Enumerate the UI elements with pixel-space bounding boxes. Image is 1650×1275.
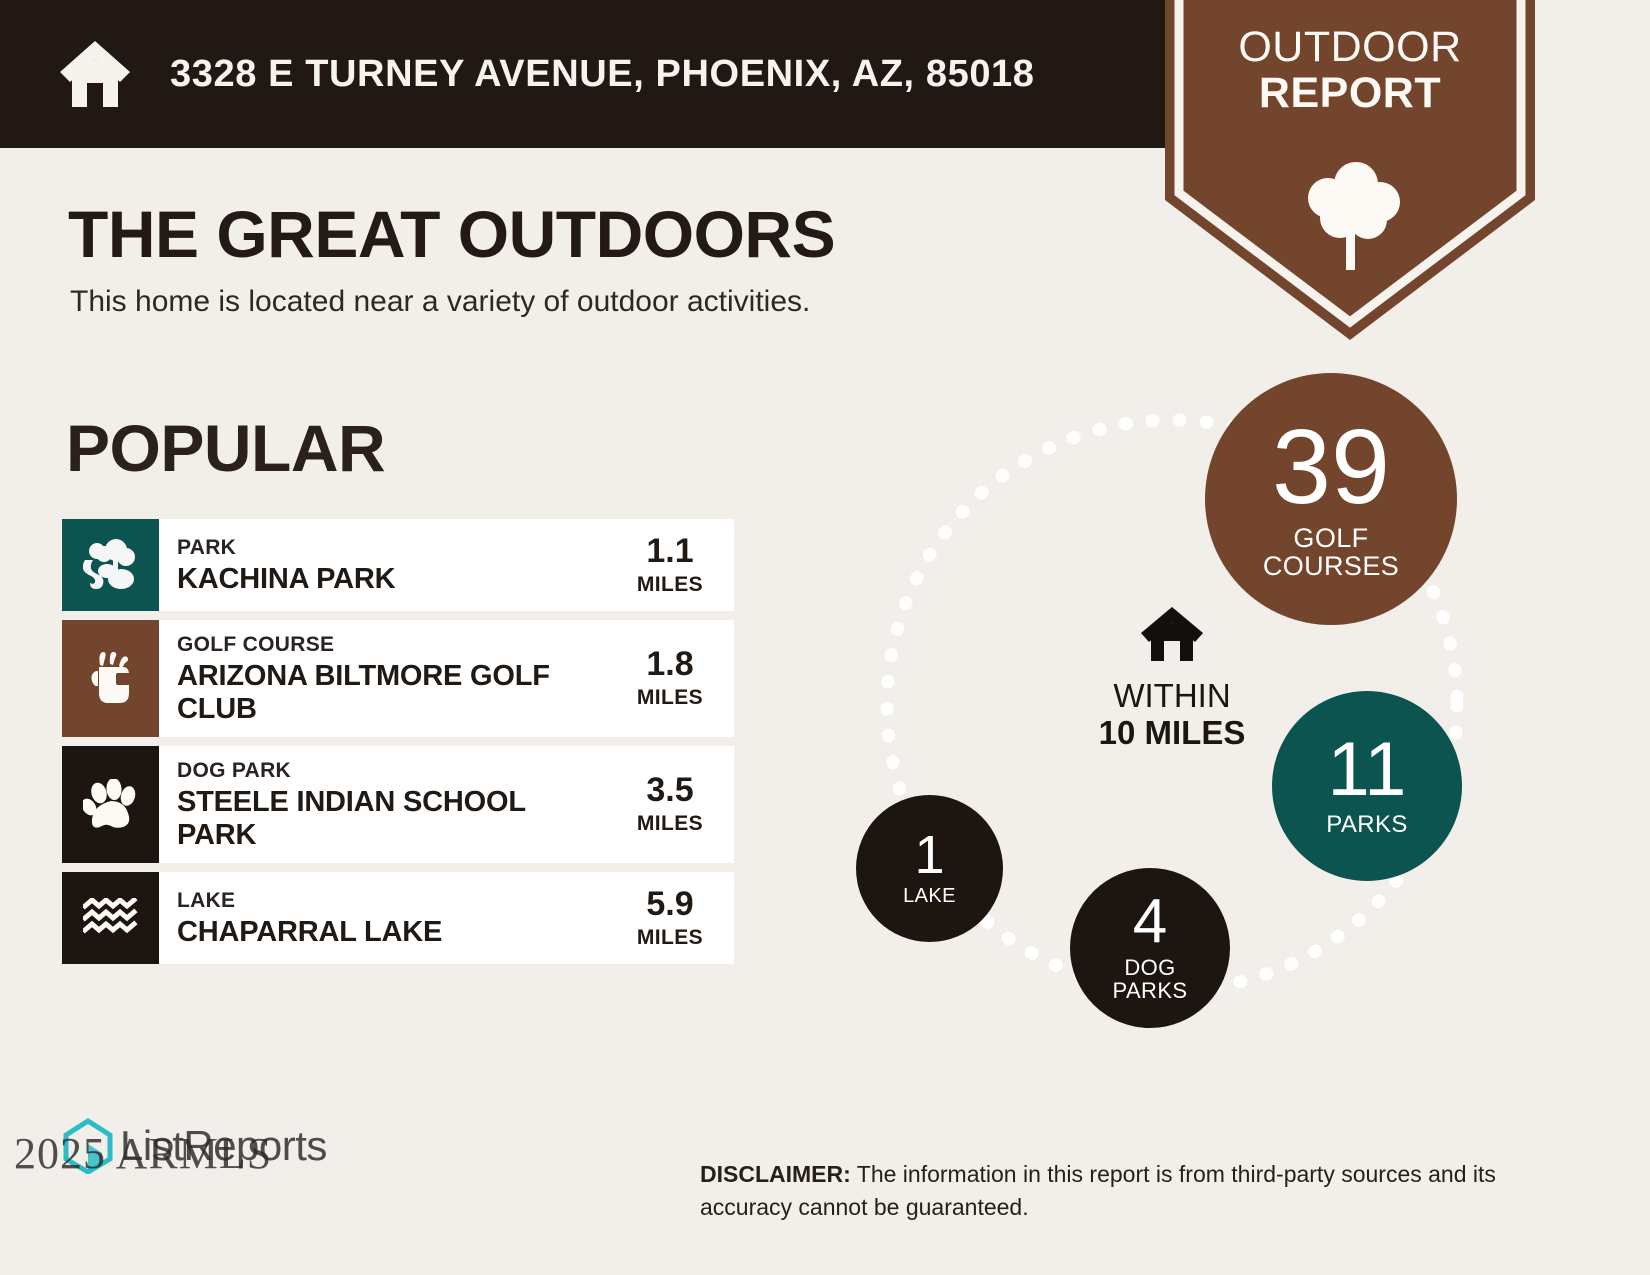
bubble-parks[interactable]: 11 PARKS: [1272, 691, 1462, 881]
distance-value: 1.1: [646, 534, 693, 568]
center-label-line-1: WITHIN: [1099, 677, 1246, 714]
distance-unit: MILES: [637, 686, 703, 710]
page-title: THE GREAT OUTDOORS: [68, 196, 835, 272]
outdoor-report-badge: OUTDOOR REPORT: [1165, 0, 1535, 343]
list-item-name: CHAPARRAL LAKE: [177, 916, 616, 948]
list-item-name: ARIZONA BILTMORE GOLF CLUB: [177, 660, 616, 725]
popular-list: PARK KACHINA PARK 1.1 MILES GOL: [62, 519, 734, 973]
golf-bag-icon: [62, 620, 159, 737]
bubble-lake[interactable]: 1 LAKE: [856, 795, 1003, 942]
list-item-text: GOLF COURSE ARIZONA BILTMORE GOLF CLUB: [159, 620, 622, 737]
list-item-distance: 3.5 MILES: [622, 746, 734, 863]
bubble-label: PARKS: [1326, 812, 1408, 837]
list-item-category: PARK: [177, 535, 616, 561]
center-label: WITHIN 10 MILES: [1099, 677, 1246, 752]
bubble-label: LAKE: [903, 886, 956, 907]
bubble-label-line-1: DOG: [1113, 956, 1188, 979]
list-item-text: LAKE CHAPARRAL LAKE: [159, 872, 622, 964]
list-item-text: PARK KACHINA PARK: [159, 519, 622, 611]
list-item-category: GOLF COURSE: [177, 632, 616, 658]
list-item[interactable]: DOG PARK STEELE INDIAN SCHOOL PARK 3.5 M…: [62, 746, 734, 863]
amenities-bubble-chart: WITHIN 10 MILES 39 GOLF COURSES 11 PARKS…: [820, 355, 1520, 1055]
bubble-label: GOLF COURSES: [1263, 524, 1399, 581]
distance-value: 1.8: [646, 647, 693, 681]
list-item[interactable]: GOLF COURSE ARIZONA BILTMORE GOLF CLUB 1…: [62, 620, 734, 737]
distance-unit: MILES: [637, 812, 703, 836]
badge-text: OUTDOOR REPORT: [1165, 24, 1535, 116]
bubble-value: 1: [914, 830, 944, 881]
distance-unit: MILES: [637, 573, 703, 597]
armls-watermark: 2025 ARMLS: [14, 1128, 272, 1179]
header-address: 3328 E TURNEY AVENUE, PHOENIX, AZ, 85018: [170, 53, 1035, 96]
header-bar: 3328 E TURNEY AVENUE, PHOENIX, AZ, 85018: [0, 0, 1212, 148]
disclaimer-lead: DISCLAIMER:: [700, 1161, 851, 1187]
bubble-value: 39: [1272, 417, 1390, 518]
bubble-label-line-2: COURSES: [1263, 552, 1399, 581]
badge-line-1: OUTDOOR: [1165, 24, 1535, 70]
list-item-distance: 1.8 MILES: [622, 620, 734, 737]
distance-value: 3.5: [646, 773, 693, 807]
bubble-label-line-1: GOLF: [1263, 524, 1399, 553]
bubble-value: 4: [1133, 893, 1167, 952]
bubble-dog-parks[interactable]: 4 DOG PARKS: [1070, 868, 1230, 1028]
park-tree-icon: [62, 519, 159, 611]
home-icon: [1139, 605, 1205, 663]
center-node: WITHIN 10 MILES: [1042, 605, 1302, 752]
distance-unit: MILES: [637, 926, 703, 950]
home-icon: [58, 39, 132, 109]
bubble-value: 11: [1328, 734, 1407, 806]
badge-line-2: REPORT: [1165, 70, 1535, 116]
list-item-category: LAKE: [177, 888, 616, 914]
center-label-line-2: 10 MILES: [1099, 714, 1246, 751]
bubble-label-line-2: PARKS: [1113, 979, 1188, 1002]
page-subtitle: This home is located near a variety of o…: [70, 285, 810, 319]
list-item-name: STEELE INDIAN SCHOOL PARK: [177, 786, 557, 851]
water-waves-icon: [62, 872, 159, 964]
list-item-text: DOG PARK STEELE INDIAN SCHOOL PARK: [159, 746, 622, 863]
list-item-name: KACHINA PARK: [177, 563, 616, 595]
disclaimer: DISCLAIMER: The information in this repo…: [700, 1158, 1530, 1225]
bubble-golf-courses[interactable]: 39 GOLF COURSES: [1205, 373, 1457, 625]
list-item[interactable]: PARK KACHINA PARK 1.1 MILES: [62, 519, 734, 611]
list-item-distance: 5.9 MILES: [622, 872, 734, 964]
list-item-distance: 1.1 MILES: [622, 519, 734, 611]
bubble-label: DOG PARKS: [1113, 956, 1188, 1003]
paw-print-icon: [62, 746, 159, 863]
list-item-category: DOG PARK: [177, 758, 616, 784]
outdoor-report-page: 3328 E TURNEY AVENUE, PHOENIX, AZ, 85018…: [0, 0, 1650, 1275]
distance-value: 5.9: [646, 887, 693, 921]
list-item[interactable]: LAKE CHAPARRAL LAKE 5.9 MILES: [62, 872, 734, 964]
popular-heading: POPULAR: [66, 410, 385, 486]
